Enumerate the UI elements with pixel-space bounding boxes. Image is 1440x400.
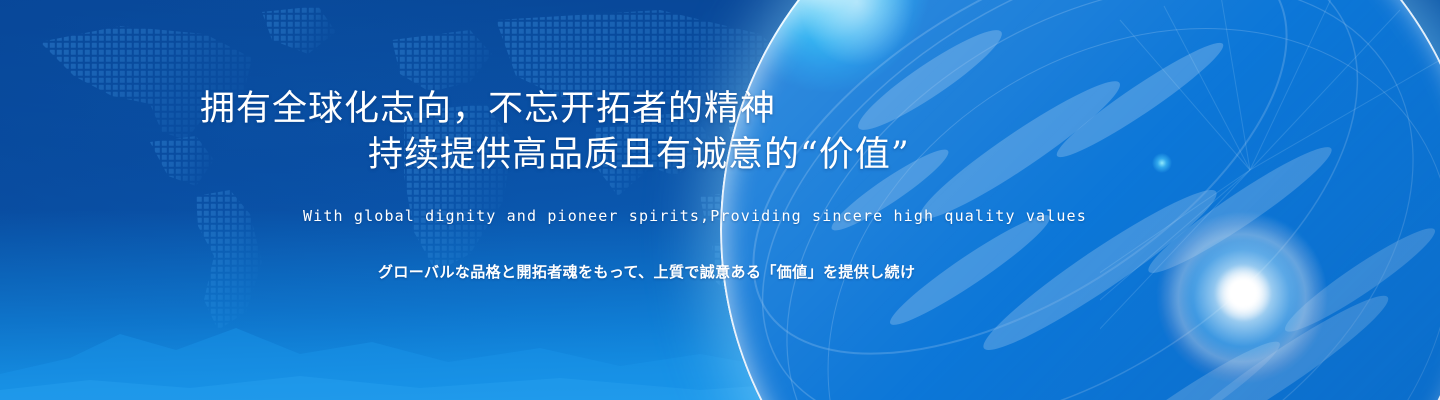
subline-english: With global dignity and pioneer spirits,… [303,207,1087,225]
headline-line-1: 拥有全球化志向，不忘开拓者的精神 [200,92,776,127]
subline-japanese: グローバルな品格と開拓者魂をもって、上質で誠意ある「価値」を提供し続け [378,261,915,282]
copy-block: 拥有全球化志向，不忘开拓者的精神 持续提供高品质且有诚意的“价值” With g… [0,0,1440,400]
hero-banner: 拥有全球化志向，不忘开拓者的精神 持续提供高品质且有诚意的“价值” With g… [0,0,1440,400]
headline-line-2: 持续提供高品质且有诚意的“价值” [368,138,910,173]
